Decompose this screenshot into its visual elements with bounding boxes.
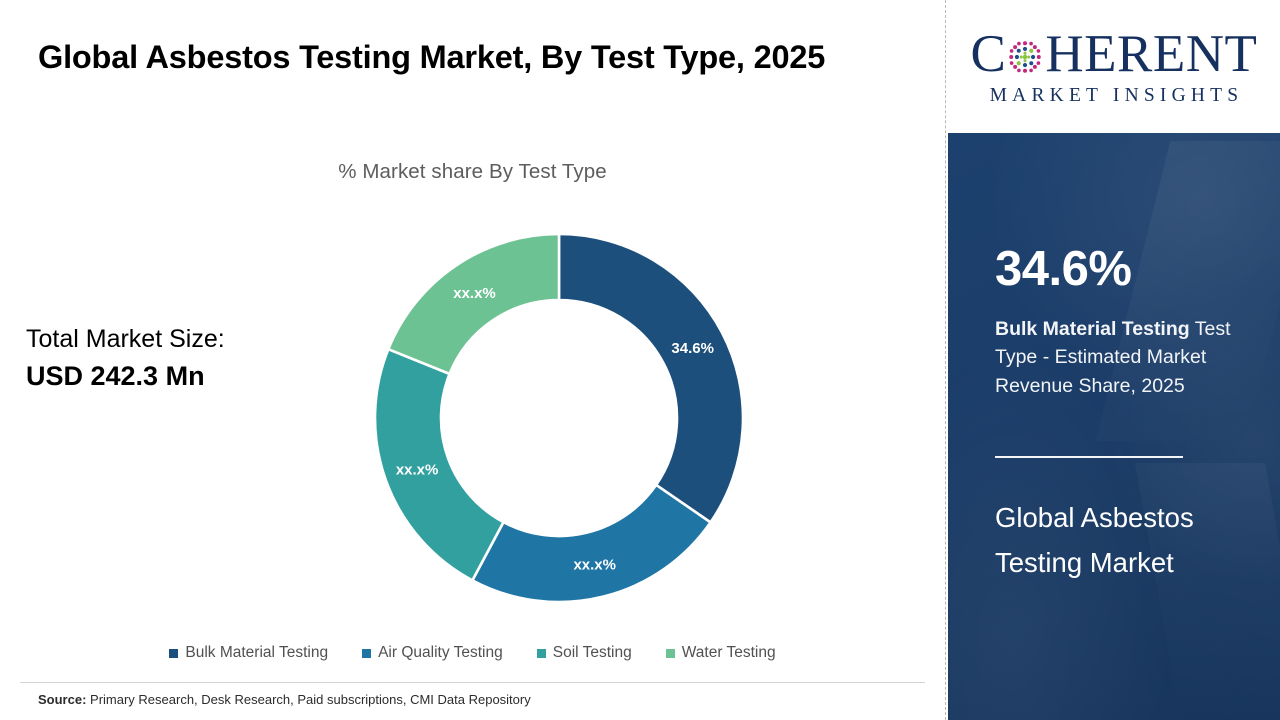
highlight-stat-value: 34.6% (995, 245, 1131, 294)
donut-slice (472, 485, 710, 602)
infographic-page: Global Asbestos Testing Market, By Test … (0, 0, 1280, 720)
left-content-panel: Global Asbestos Testing Market, By Test … (0, 0, 945, 720)
total-market-size-value: USD 242.3 Mn (26, 358, 326, 394)
brand-logo-wordmark: C (971, 27, 1258, 83)
donut-slice-label: xx.x% (573, 557, 616, 574)
total-market-size-label: Total Market Size: (26, 322, 326, 358)
donut-slice-label: xx.x% (453, 285, 496, 302)
donut-slice (388, 234, 559, 374)
source-text: Primary Research, Desk Research, Paid su… (86, 692, 530, 707)
brand-logo-c: C (971, 28, 1007, 81)
legend-label: Air Quality Testing (378, 644, 503, 662)
market-name: Global Asbestos Testing Market (995, 496, 1257, 585)
chart-legend: Bulk Material TestingAir Quality Testing… (0, 644, 945, 662)
brand-panel-body: 34.6% Bulk Material Testing Test Type - … (948, 133, 1280, 720)
legend-swatch-icon (666, 649, 675, 658)
legend-swatch-icon (537, 649, 546, 658)
donut-slice (559, 234, 743, 522)
highlight-stat-description: Bulk Material Testing Test Type - Estima… (995, 315, 1257, 400)
donut-chart-svg: 34.6%xx.x%xx.x%xx.x% (369, 228, 749, 608)
total-market-size-block: Total Market Size: USD 242.3 Mn (26, 322, 326, 394)
globe-dotted-icon (1006, 38, 1044, 76)
panel-divider (945, 0, 946, 720)
source-note: Source: Primary Research, Desk Research,… (38, 692, 531, 707)
donut-slice-label: xx.x% (396, 462, 439, 479)
donut-chart: 34.6%xx.x%xx.x%xx.x% (369, 228, 749, 608)
legend-item[interactable]: Water Testing (666, 644, 776, 662)
brand-logo-subtitle: MARKET INSIGHTS (985, 85, 1244, 107)
legend-label: Bulk Material Testing (185, 644, 328, 662)
panel-rule (995, 456, 1183, 458)
right-brand-panel: C (948, 0, 1280, 720)
legend-item[interactable]: Bulk Material Testing (169, 644, 328, 662)
brand-logo: C (948, 0, 1280, 133)
donut-slice-group (375, 234, 743, 602)
chart-subtitle: % Market share By Test Type (0, 160, 945, 184)
legend-label: Soil Testing (553, 644, 632, 662)
donut-slice-label: 34.6% (671, 340, 714, 357)
highlight-stat-segment: Bulk Material Testing (995, 318, 1190, 340)
donut-slice (375, 349, 503, 580)
legend-label: Water Testing (682, 644, 776, 662)
source-label: Source: (38, 692, 86, 707)
legend-item[interactable]: Soil Testing (537, 644, 632, 662)
source-divider (20, 682, 925, 683)
legend-swatch-icon (362, 649, 371, 658)
brand-logo-rest: HERENT (1045, 28, 1257, 81)
legend-item[interactable]: Air Quality Testing (362, 644, 503, 662)
legend-swatch-icon (169, 649, 178, 658)
page-title: Global Asbestos Testing Market, By Test … (38, 32, 868, 83)
